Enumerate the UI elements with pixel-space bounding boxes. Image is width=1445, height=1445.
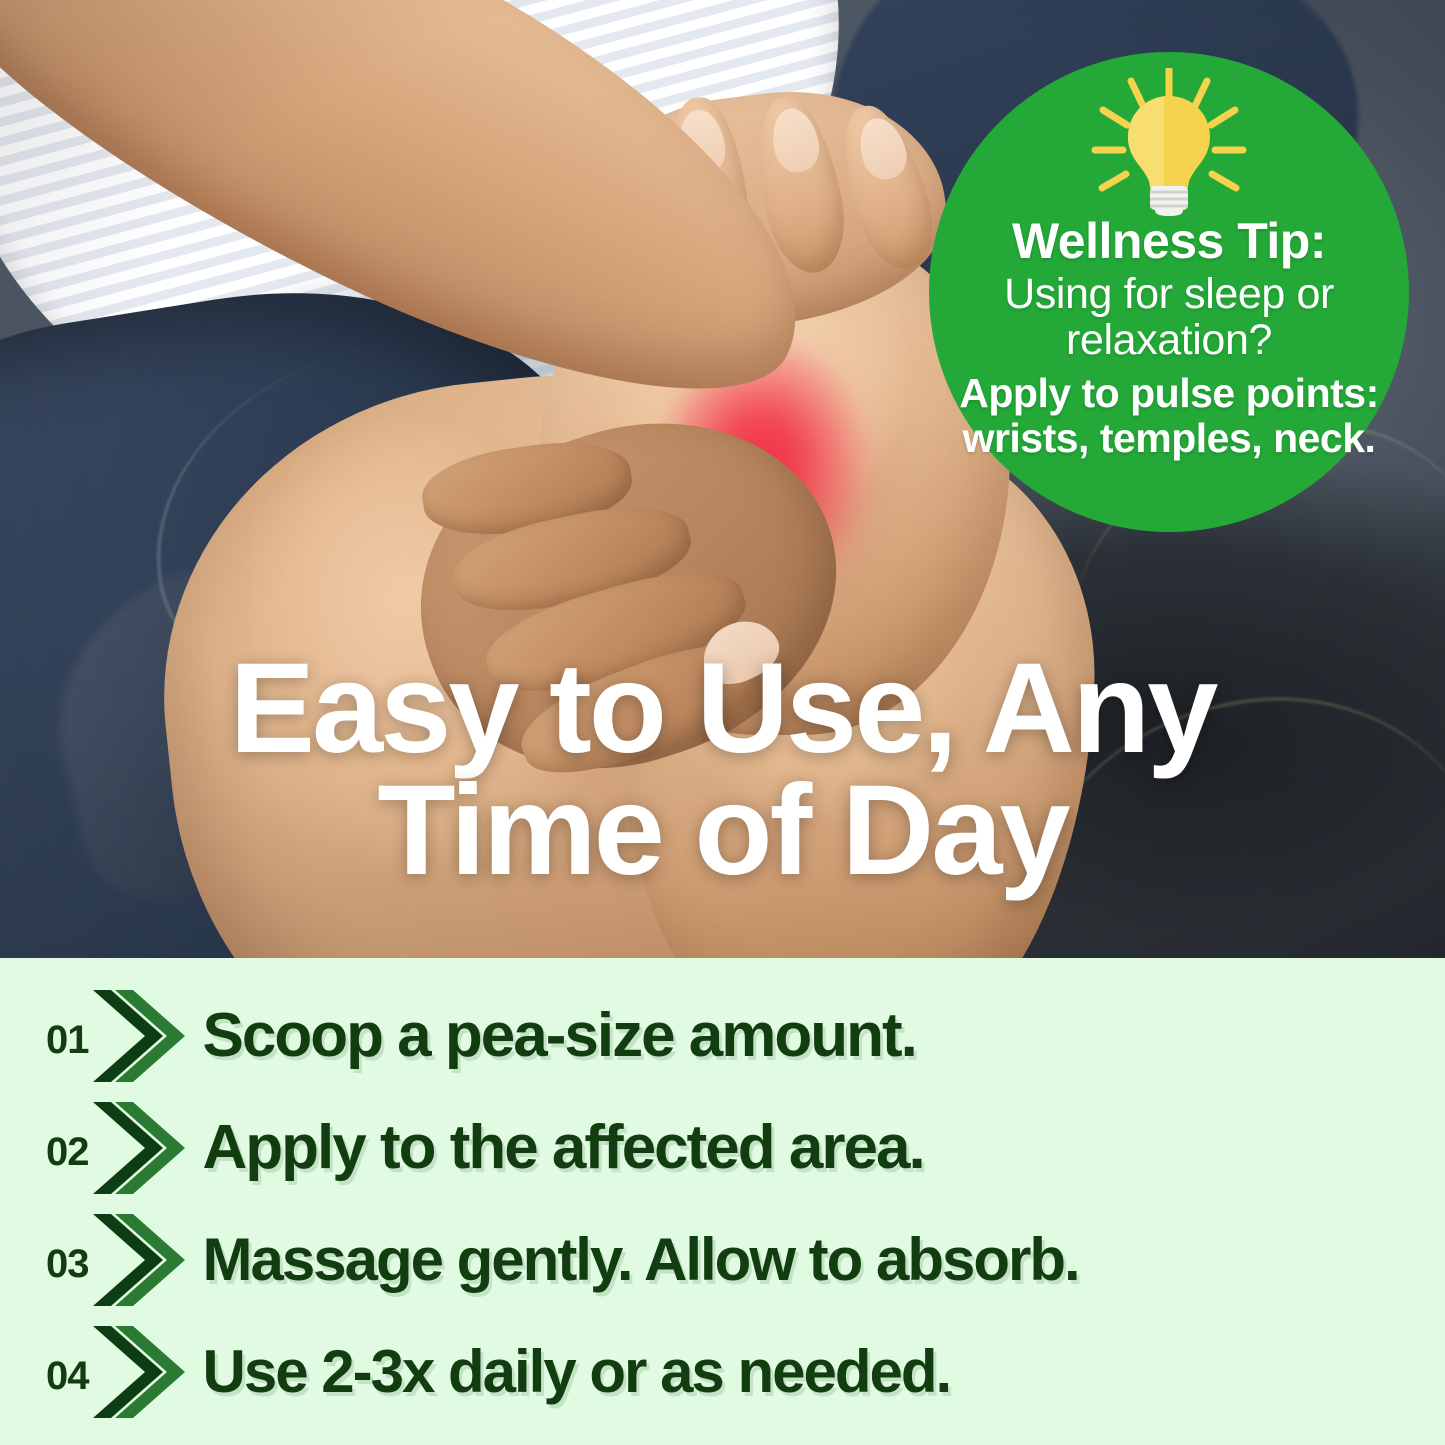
lightbulb-icon bbox=[1069, 68, 1269, 216]
step-label: Apply to the affected area. bbox=[203, 1117, 924, 1179]
badge-advice: Apply to pulse points: wrists, temples, … bbox=[929, 371, 1409, 461]
list-item: 03 Massage gently. Allow to absorb. bbox=[0, 1204, 1445, 1316]
list-item: 02 Apply to the affected area. bbox=[0, 1092, 1445, 1204]
double-chevron-icon bbox=[91, 984, 187, 1088]
step-number: 04 bbox=[46, 1356, 89, 1396]
step-number: 01 bbox=[46, 1020, 89, 1060]
double-chevron-icon bbox=[91, 1208, 187, 1312]
list-item: 04 Use 2-3x daily or as needed. bbox=[0, 1316, 1445, 1428]
badge-title: Wellness Tip: bbox=[1012, 216, 1326, 266]
step-label: Scoop a pea-size amount. bbox=[203, 1005, 916, 1067]
step-number: 02 bbox=[46, 1132, 89, 1172]
badge-question: Using for sleep or relaxation? bbox=[929, 272, 1409, 363]
infographic-canvas: Wellness Tip: Using for sleep or relaxat… bbox=[0, 0, 1445, 1445]
step-label: Use 2-3x daily or as needed. bbox=[203, 1342, 951, 1402]
double-chevron-icon bbox=[91, 1320, 187, 1424]
headline-line-2: Time of Day bbox=[60, 770, 1385, 892]
steps-panel: 01 Scoop a pea-size amount. 02 Apply to … bbox=[0, 958, 1445, 1445]
wellness-tip-badge: Wellness Tip: Using for sleep or relaxat… bbox=[929, 52, 1409, 532]
step-label: Massage gently. Allow to absorb. bbox=[203, 1230, 1079, 1290]
page-title: Easy to Use, Any Time of Day bbox=[0, 648, 1445, 891]
double-chevron-icon bbox=[91, 1096, 187, 1200]
list-item: 01 Scoop a pea-size amount. bbox=[0, 980, 1445, 1092]
step-number: 03 bbox=[46, 1244, 89, 1284]
